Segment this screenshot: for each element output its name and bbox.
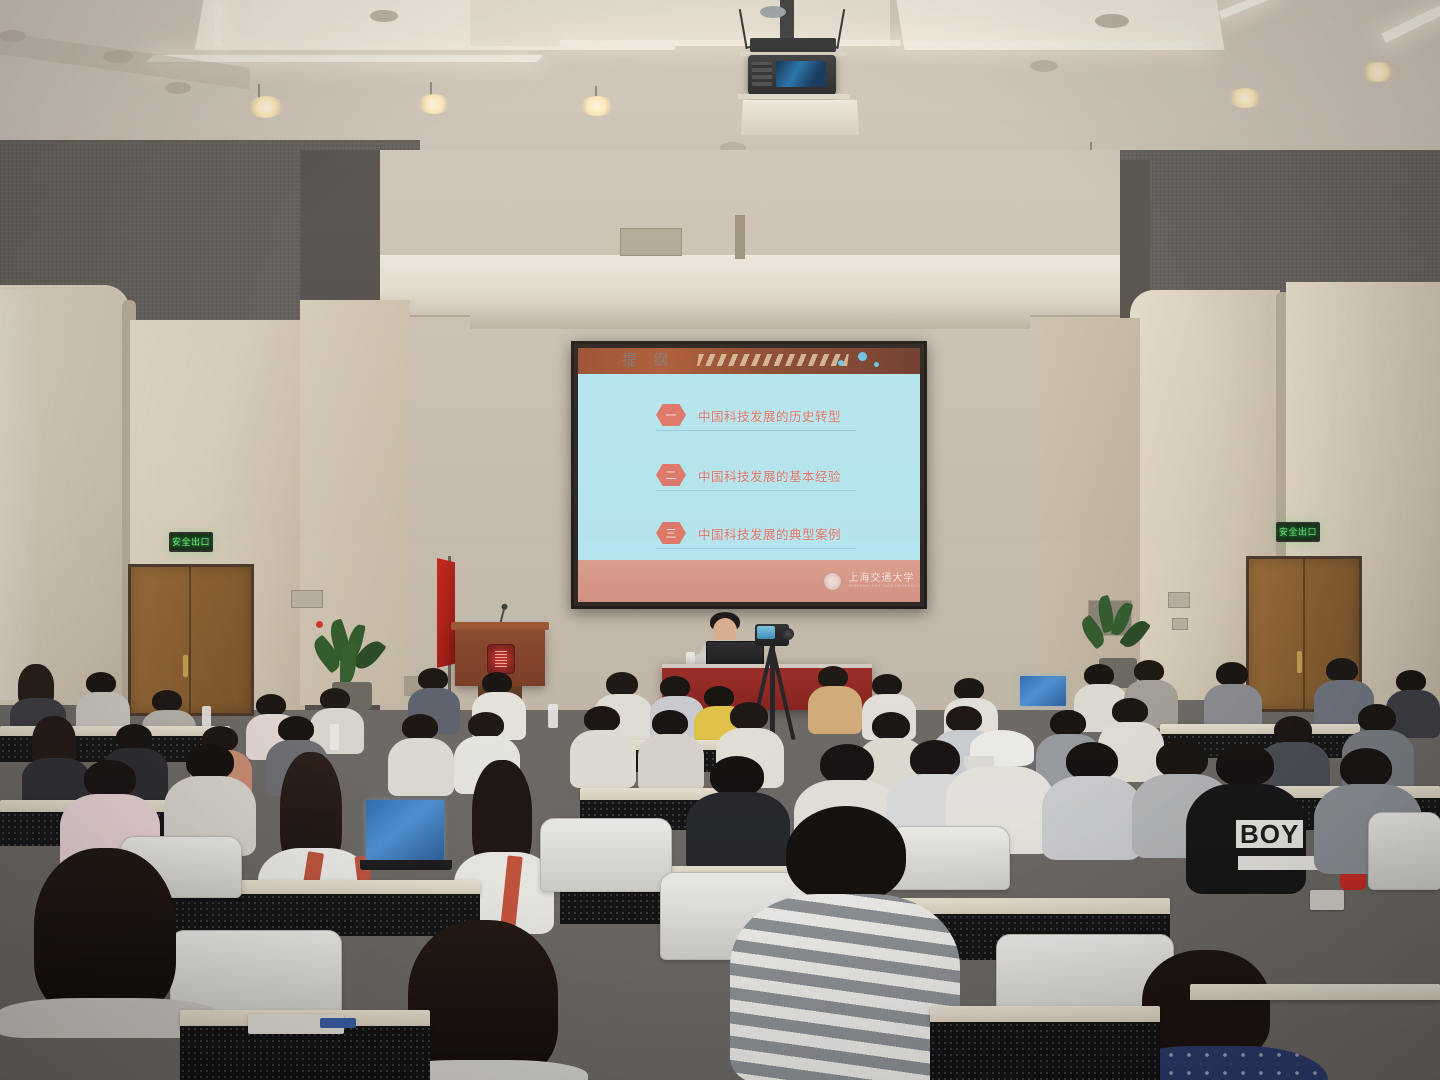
- outline-text-2: 中国科技发展的基本经验: [698, 466, 841, 485]
- outline-number-badge-1: 一: [656, 404, 686, 426]
- ceiling-vent: [0, 30, 26, 42]
- ceiling-vent: [165, 82, 191, 94]
- desk-row-far: [1160, 724, 1360, 734]
- camera-viewfinder-screen: [757, 626, 775, 639]
- outline-underline-3: [656, 548, 856, 549]
- ceiling-vent: [103, 50, 133, 63]
- ceiling-vent: [1095, 14, 1129, 28]
- projector-housing-box: [741, 100, 859, 135]
- door-seam: [1303, 559, 1305, 709]
- ceiling-downlight: [418, 94, 450, 114]
- outline-number-badge-3: 三: [656, 522, 686, 544]
- ceiling-downlight: [1362, 62, 1394, 82]
- banner-decoration: [697, 354, 849, 366]
- shirt-graphic-subtext: [1238, 856, 1322, 870]
- chair[interactable]: [1368, 812, 1440, 890]
- slide-body: 一 中国科技发展的历史转型 二 中国科技发展的基本经验 三 中国科技发展的典型案…: [578, 374, 920, 560]
- wall-panel-highlight: [0, 290, 40, 700]
- outline-underline-1: [656, 430, 856, 431]
- door-left[interactable]: [128, 564, 254, 716]
- projection-screen: 提 纲 一 中国科技发展的历史转型 二 中国科技发展的基本经验 三 中国科技发展…: [571, 341, 927, 609]
- exit-sign-right: 安全出口: [1276, 522, 1320, 542]
- camera-lens-icon: [782, 628, 794, 640]
- outline-underline-2: [656, 490, 856, 491]
- audience-laptop-screen[interactable]: [1020, 676, 1066, 706]
- projector-bracket: [750, 38, 836, 52]
- ceiling-downlight: [248, 96, 284, 118]
- pen: [320, 1018, 356, 1028]
- university-name: 上海交通大学: [848, 574, 914, 584]
- banner-dot-icon: [838, 360, 844, 366]
- outline-number-badge-2: 二: [656, 464, 686, 486]
- exit-sign-left-label: 安全出口: [172, 538, 210, 547]
- outline-text-3: 中国科技发展的典型案例: [698, 524, 841, 543]
- ceiling-vent: [370, 10, 398, 22]
- door-handle-right[interactable]: [1297, 651, 1302, 673]
- national-flag: [437, 558, 455, 668]
- lecture-hall-photo: 安全出口 安全出口 提 纲 一 中: [0, 0, 1440, 1080]
- outline-item-3: 三 中国科技发展的典型案例: [656, 522, 841, 544]
- desk-front-panel: [930, 1022, 1160, 1080]
- desk-row-front: [930, 1006, 1160, 1022]
- projector-keypad[interactable]: [752, 62, 772, 86]
- university-name-english: SHANGHAI JIAO TONG UNIVERSITY: [848, 584, 920, 588]
- sprinkler-head-icon: [760, 6, 786, 18]
- screen-soffit: [470, 305, 1030, 329]
- banner-dot-icon: [858, 352, 867, 361]
- audience-laptop-screen[interactable]: [366, 800, 444, 860]
- wall-control-panel-left[interactable]: [291, 590, 323, 608]
- ceiling-vent: [1030, 60, 1058, 72]
- presentation-slide: 提 纲 一 中国科技发展的历史转型 二 中国科技发展的基本经验 三 中国科技发展…: [578, 348, 920, 602]
- door-seam: [189, 567, 191, 713]
- university-seal-icon: [823, 572, 842, 591]
- wall-control-panel-right[interactable]: [1168, 592, 1190, 608]
- exit-sign-left: 安全出口: [169, 532, 213, 552]
- slide-footer: 上海交通大学 SHANGHAI JIAO TONG UNIVERSITY: [578, 560, 920, 602]
- water-bottle: [330, 724, 339, 750]
- ceiling-downlight: [1228, 88, 1262, 108]
- desk-row-front: [1190, 984, 1440, 1000]
- cove-light: [560, 40, 900, 46]
- shirt-graphic-text: BOY: [1236, 820, 1303, 848]
- projector: [748, 55, 836, 95]
- cove-light: [215, 0, 221, 46]
- slide-title: 提 纲: [622, 349, 674, 370]
- smartphone[interactable]: [1310, 890, 1344, 910]
- outline-item-1: 一 中国科技发展的历史转型: [656, 404, 841, 426]
- wall-access-panel: [620, 228, 682, 256]
- ceiling-downlight: [580, 96, 614, 116]
- projector-lens-glow: [776, 61, 826, 87]
- projector-plate: [738, 94, 850, 99]
- cove-light: [902, 42, 1207, 49]
- door-handle-left[interactable]: [183, 655, 188, 677]
- desk-front-panel: [180, 1026, 430, 1080]
- podium-top: [451, 622, 549, 630]
- chair[interactable]: [888, 826, 1010, 890]
- outline-text-1: 中国科技发展的历史转型: [698, 406, 841, 425]
- exit-sign-right-label: 安全出口: [1279, 528, 1317, 537]
- wall-outlet-right: [1172, 618, 1188, 630]
- outline-item-2: 二 中国科技发展的基本经验: [656, 464, 841, 486]
- podium-emblem-icon: [487, 644, 515, 674]
- wall-conduit: [735, 215, 745, 259]
- water-bottle: [548, 704, 558, 728]
- audience-laptop-base[interactable]: [360, 860, 452, 870]
- chair[interactable]: [540, 818, 672, 892]
- banner-dot-icon: [874, 362, 879, 367]
